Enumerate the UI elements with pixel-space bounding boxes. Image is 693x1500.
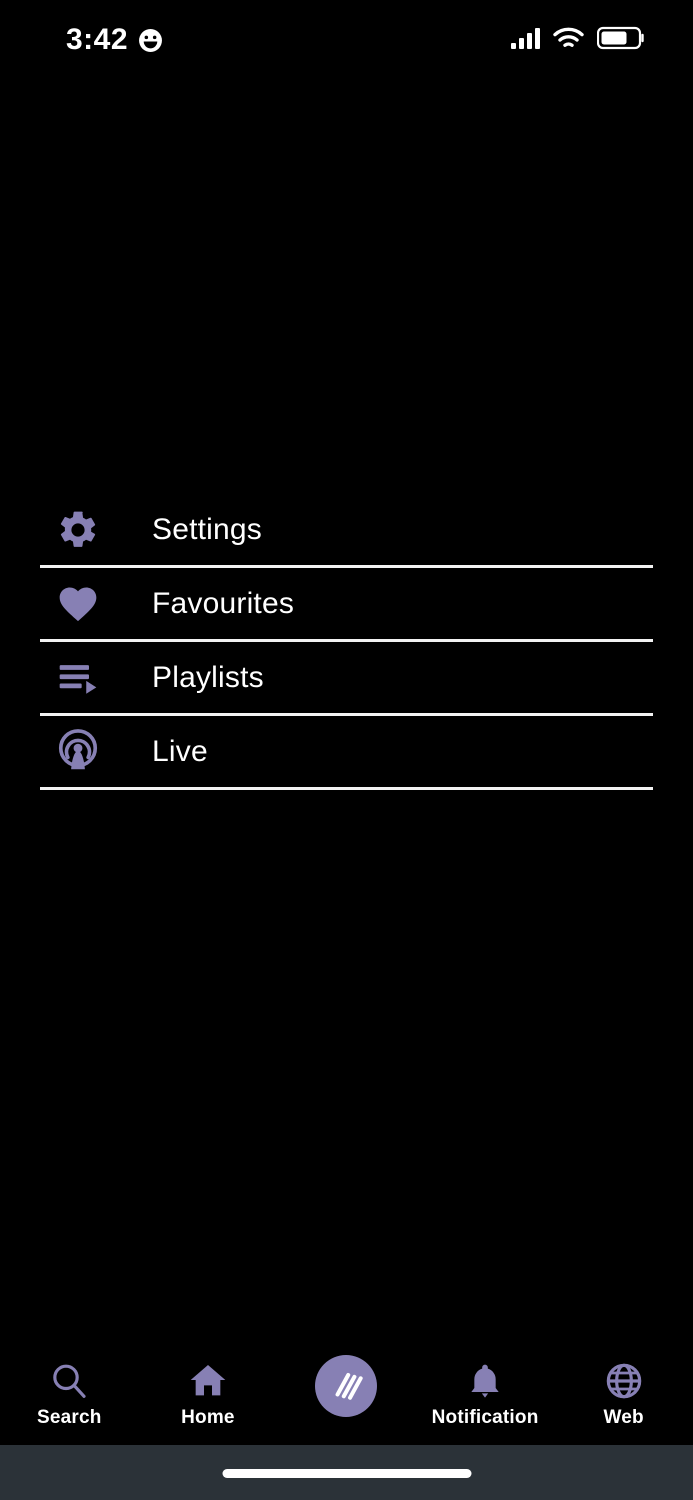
- nav-item-notification[interactable]: Notification: [416, 1350, 554, 1445]
- nav-item-home[interactable]: Home: [139, 1350, 277, 1445]
- menu-divider: [40, 787, 653, 790]
- smiley-face-icon: [138, 28, 163, 53]
- playlist-icon: [40, 656, 116, 700]
- diagonal-lines-icon: [324, 1364, 368, 1408]
- nav-item-label: Search: [37, 1407, 102, 1429]
- home-indicator-bar[interactable]: [222, 1469, 471, 1478]
- nav-item-label: Web: [603, 1407, 643, 1429]
- status-bar: 3:42: [0, 0, 693, 84]
- menu-item-label: Live: [152, 735, 208, 769]
- nav-item-search[interactable]: Search: [0, 1350, 138, 1445]
- battery-icon: [597, 26, 645, 50]
- nav-item-web[interactable]: Web: [555, 1350, 693, 1445]
- broadcast-icon: [40, 729, 116, 775]
- menu-item-playlists[interactable]: Playlists: [40, 642, 653, 713]
- home-indicator-area: [0, 1445, 693, 1500]
- heart-icon: [40, 582, 116, 626]
- gear-icon: [40, 508, 116, 552]
- menu-item-settings[interactable]: Settings: [40, 494, 653, 565]
- center-action-button[interactable]: [315, 1355, 377, 1417]
- wifi-icon: [553, 27, 584, 50]
- status-bar-right: [511, 26, 645, 50]
- menu-item-label: Settings: [152, 513, 262, 547]
- bottom-navigation-bar: Search Home: [0, 1350, 693, 1445]
- nav-item-label: Notification: [432, 1407, 539, 1429]
- home-icon: [188, 1358, 228, 1404]
- menu-item-favourites[interactable]: Favourites: [40, 568, 653, 639]
- cellular-signal-icon: [511, 28, 540, 49]
- nav-center-action[interactable]: [277, 1350, 415, 1445]
- nav-item-label: Home: [181, 1407, 235, 1429]
- status-bar-left: 3:42: [66, 22, 163, 58]
- globe-icon: [604, 1358, 644, 1404]
- main-menu-list: Settings Favourites Playlis: [40, 494, 653, 790]
- menu-item-label: Favourites: [152, 587, 294, 621]
- phone-screen: 3:42: [0, 0, 693, 1500]
- menu-item-label: Playlists: [152, 661, 264, 695]
- bell-icon: [465, 1358, 505, 1404]
- menu-item-live[interactable]: Live: [40, 716, 653, 787]
- search-icon: [49, 1358, 89, 1404]
- status-bar-time: 3:42: [66, 22, 128, 58]
